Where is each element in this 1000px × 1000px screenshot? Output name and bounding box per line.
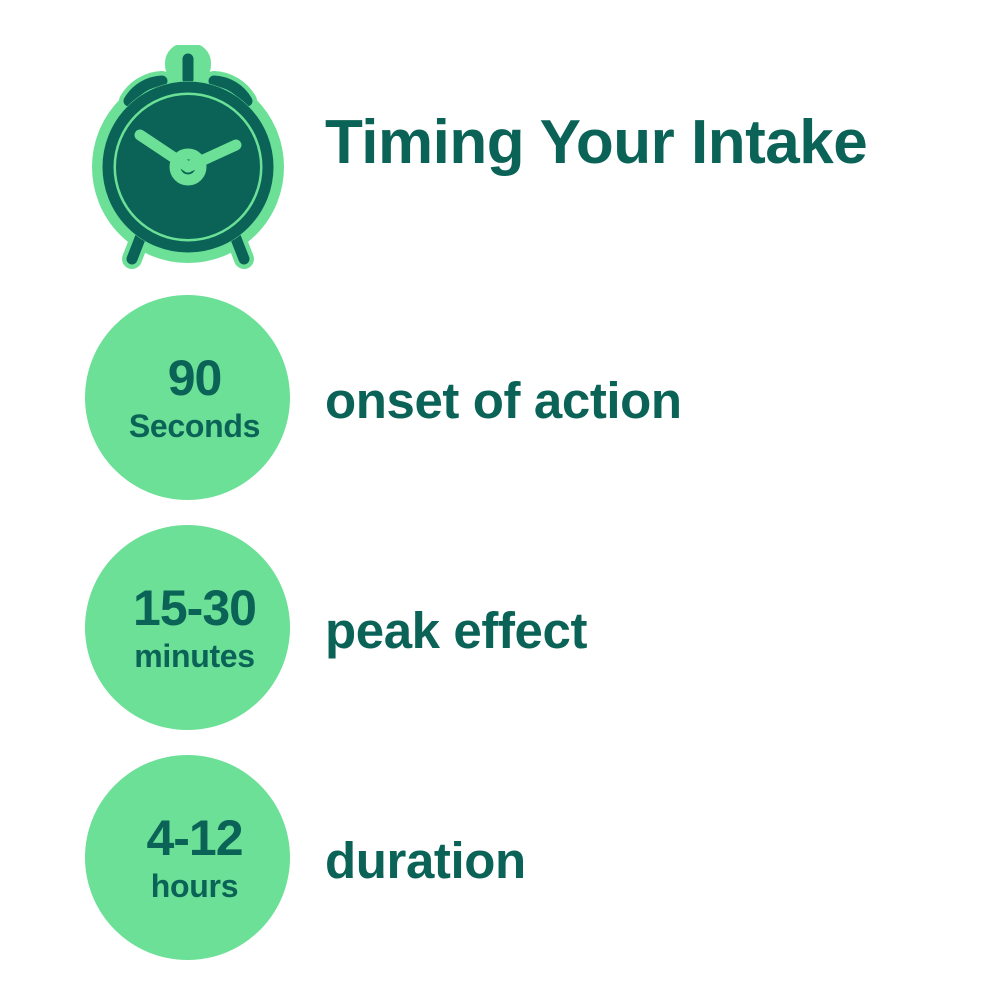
timing-row: 90 Seconds onset of action xyxy=(0,285,1000,515)
timing-bubble: 15-30 minutes xyxy=(85,525,290,730)
timing-bubble: 4-12 hours xyxy=(85,755,290,960)
timing-bubble: 90 Seconds xyxy=(85,295,290,500)
timing-infographic: Timing Your Intake 90 Seconds onset of a… xyxy=(0,0,1000,1000)
header: Timing Your Intake xyxy=(0,0,1000,285)
timing-row: 4-12 hours duration xyxy=(0,745,1000,975)
timing-unit: Seconds xyxy=(129,410,260,442)
timing-unit: minutes xyxy=(134,640,255,672)
timing-value: 15-30 xyxy=(133,583,256,633)
timing-value: 4-12 xyxy=(146,813,242,863)
timing-rows: 90 Seconds onset of action 15-30 minutes… xyxy=(0,285,1000,975)
timing-label: peak effect xyxy=(325,515,587,745)
timing-label: onset of action xyxy=(325,285,682,515)
timing-row: 15-30 minutes peak effect xyxy=(0,515,1000,745)
timing-unit: hours xyxy=(151,870,238,902)
alarm-clock-icon xyxy=(88,45,288,275)
timing-label: duration xyxy=(325,745,526,975)
page-title: Timing Your Intake xyxy=(325,0,867,285)
timing-value: 90 xyxy=(168,353,222,403)
